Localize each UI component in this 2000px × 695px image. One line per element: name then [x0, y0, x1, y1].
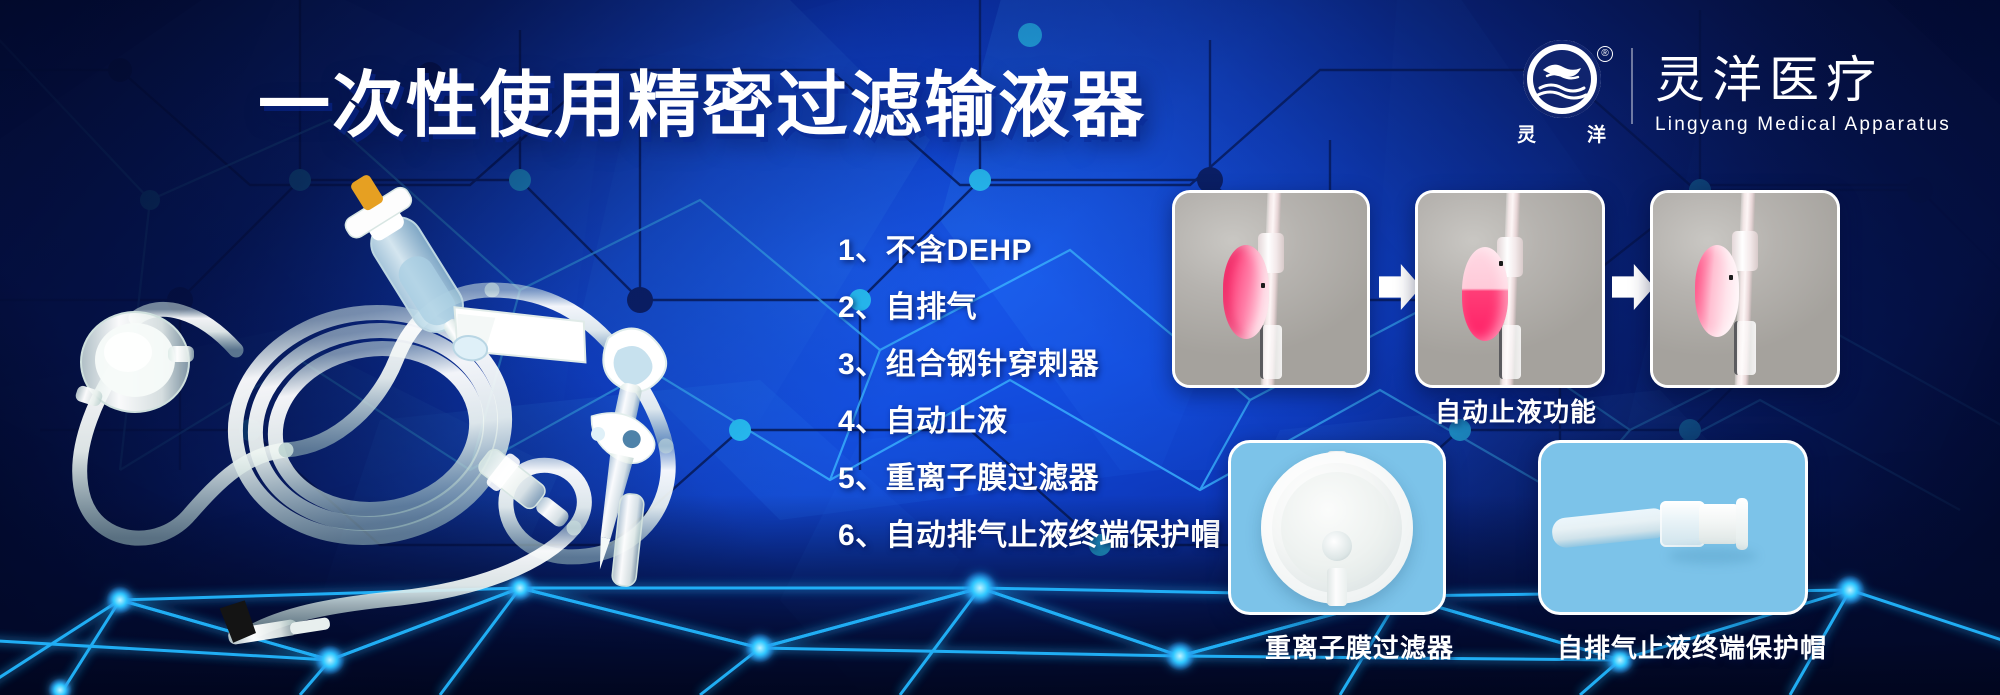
feature-item-5: 5、重离子膜过滤器 — [838, 450, 1221, 507]
feature-item-1: 1、不含DEHP — [838, 222, 1221, 279]
logo-mark: ® 灵 洋 — [1517, 40, 1613, 146]
logo-subtext-left: 灵 — [1517, 120, 1537, 147]
cap-ring-icon — [1736, 498, 1748, 550]
feature-item-2: 2、自排气 — [838, 279, 1221, 336]
stopflow-chamber-half — [1462, 247, 1508, 341]
clamp-icon — [1734, 321, 1756, 375]
sequence-panel-2 — [1415, 190, 1605, 388]
feature-list: 1、不含DEHP 2、自排气 3、组合钢针穿刺器 4、自动止液 5、重离子膜过滤… — [838, 222, 1221, 564]
logo-wordmark: 灵洋医疗 Lingyang Medical Apparatus — [1655, 51, 1951, 136]
banner-root: 一次性使用精密过滤输液器 ® 灵 洋 灵洋医疗 Lin — [0, 0, 2000, 695]
filter-outlet-port-icon — [1327, 568, 1347, 606]
main-product-image — [40, 150, 800, 670]
logo-subtext-right: 洋 — [1587, 120, 1607, 147]
clamp-icon — [1260, 325, 1282, 379]
stopflow-chamber-empty — [1695, 245, 1739, 337]
product-panel-filter-caption: 重离子膜过滤器 — [1265, 628, 1454, 665]
product-panel-filter — [1228, 440, 1446, 615]
product-panel-cap — [1538, 440, 1808, 615]
filter-membrane — [1281, 472, 1393, 584]
product-panel-cap-caption: 自排气止液终端保护帽 — [1557, 628, 1827, 665]
feature-item-3: 3、组合钢针穿刺器 — [838, 336, 1221, 393]
banner-title: 一次性使用精密过滤输液器 — [258, 46, 1146, 151]
stopflow-chamber-full — [1223, 245, 1269, 339]
registered-trademark-icon: ® — [1597, 46, 1613, 62]
logo-emblem-icon — [1523, 40, 1601, 118]
sequence-panel-1 — [1172, 190, 1370, 388]
sequence-panel-3 — [1650, 190, 1840, 388]
cap-hub-icon — [1660, 501, 1705, 547]
cap-body-icon — [1699, 504, 1739, 544]
sequence-caption: 自动止液功能 — [1435, 392, 1597, 429]
product-round-filter — [74, 312, 194, 412]
clamp-icon — [1499, 325, 1521, 379]
logo-company-cn: 灵洋医疗 — [1655, 55, 1951, 105]
cap-tube-icon — [1550, 507, 1669, 549]
logo-divider — [1631, 48, 1633, 124]
feature-item-6: 6、自动排气止液终端保护帽 — [838, 507, 1221, 564]
feature-item-4: 4、自动止液 — [838, 393, 1221, 450]
company-logo: ® 灵 洋 灵洋医疗 Lingyang Medical Apparatus — [1517, 40, 1951, 146]
logo-company-en: Lingyang Medical Apparatus — [1655, 114, 1951, 136]
filter-outlet-nub — [1322, 531, 1352, 561]
product-inline-connector — [472, 442, 579, 538]
logo-subtext: 灵 洋 — [1517, 120, 1607, 147]
cap-shadow — [1668, 548, 1758, 564]
